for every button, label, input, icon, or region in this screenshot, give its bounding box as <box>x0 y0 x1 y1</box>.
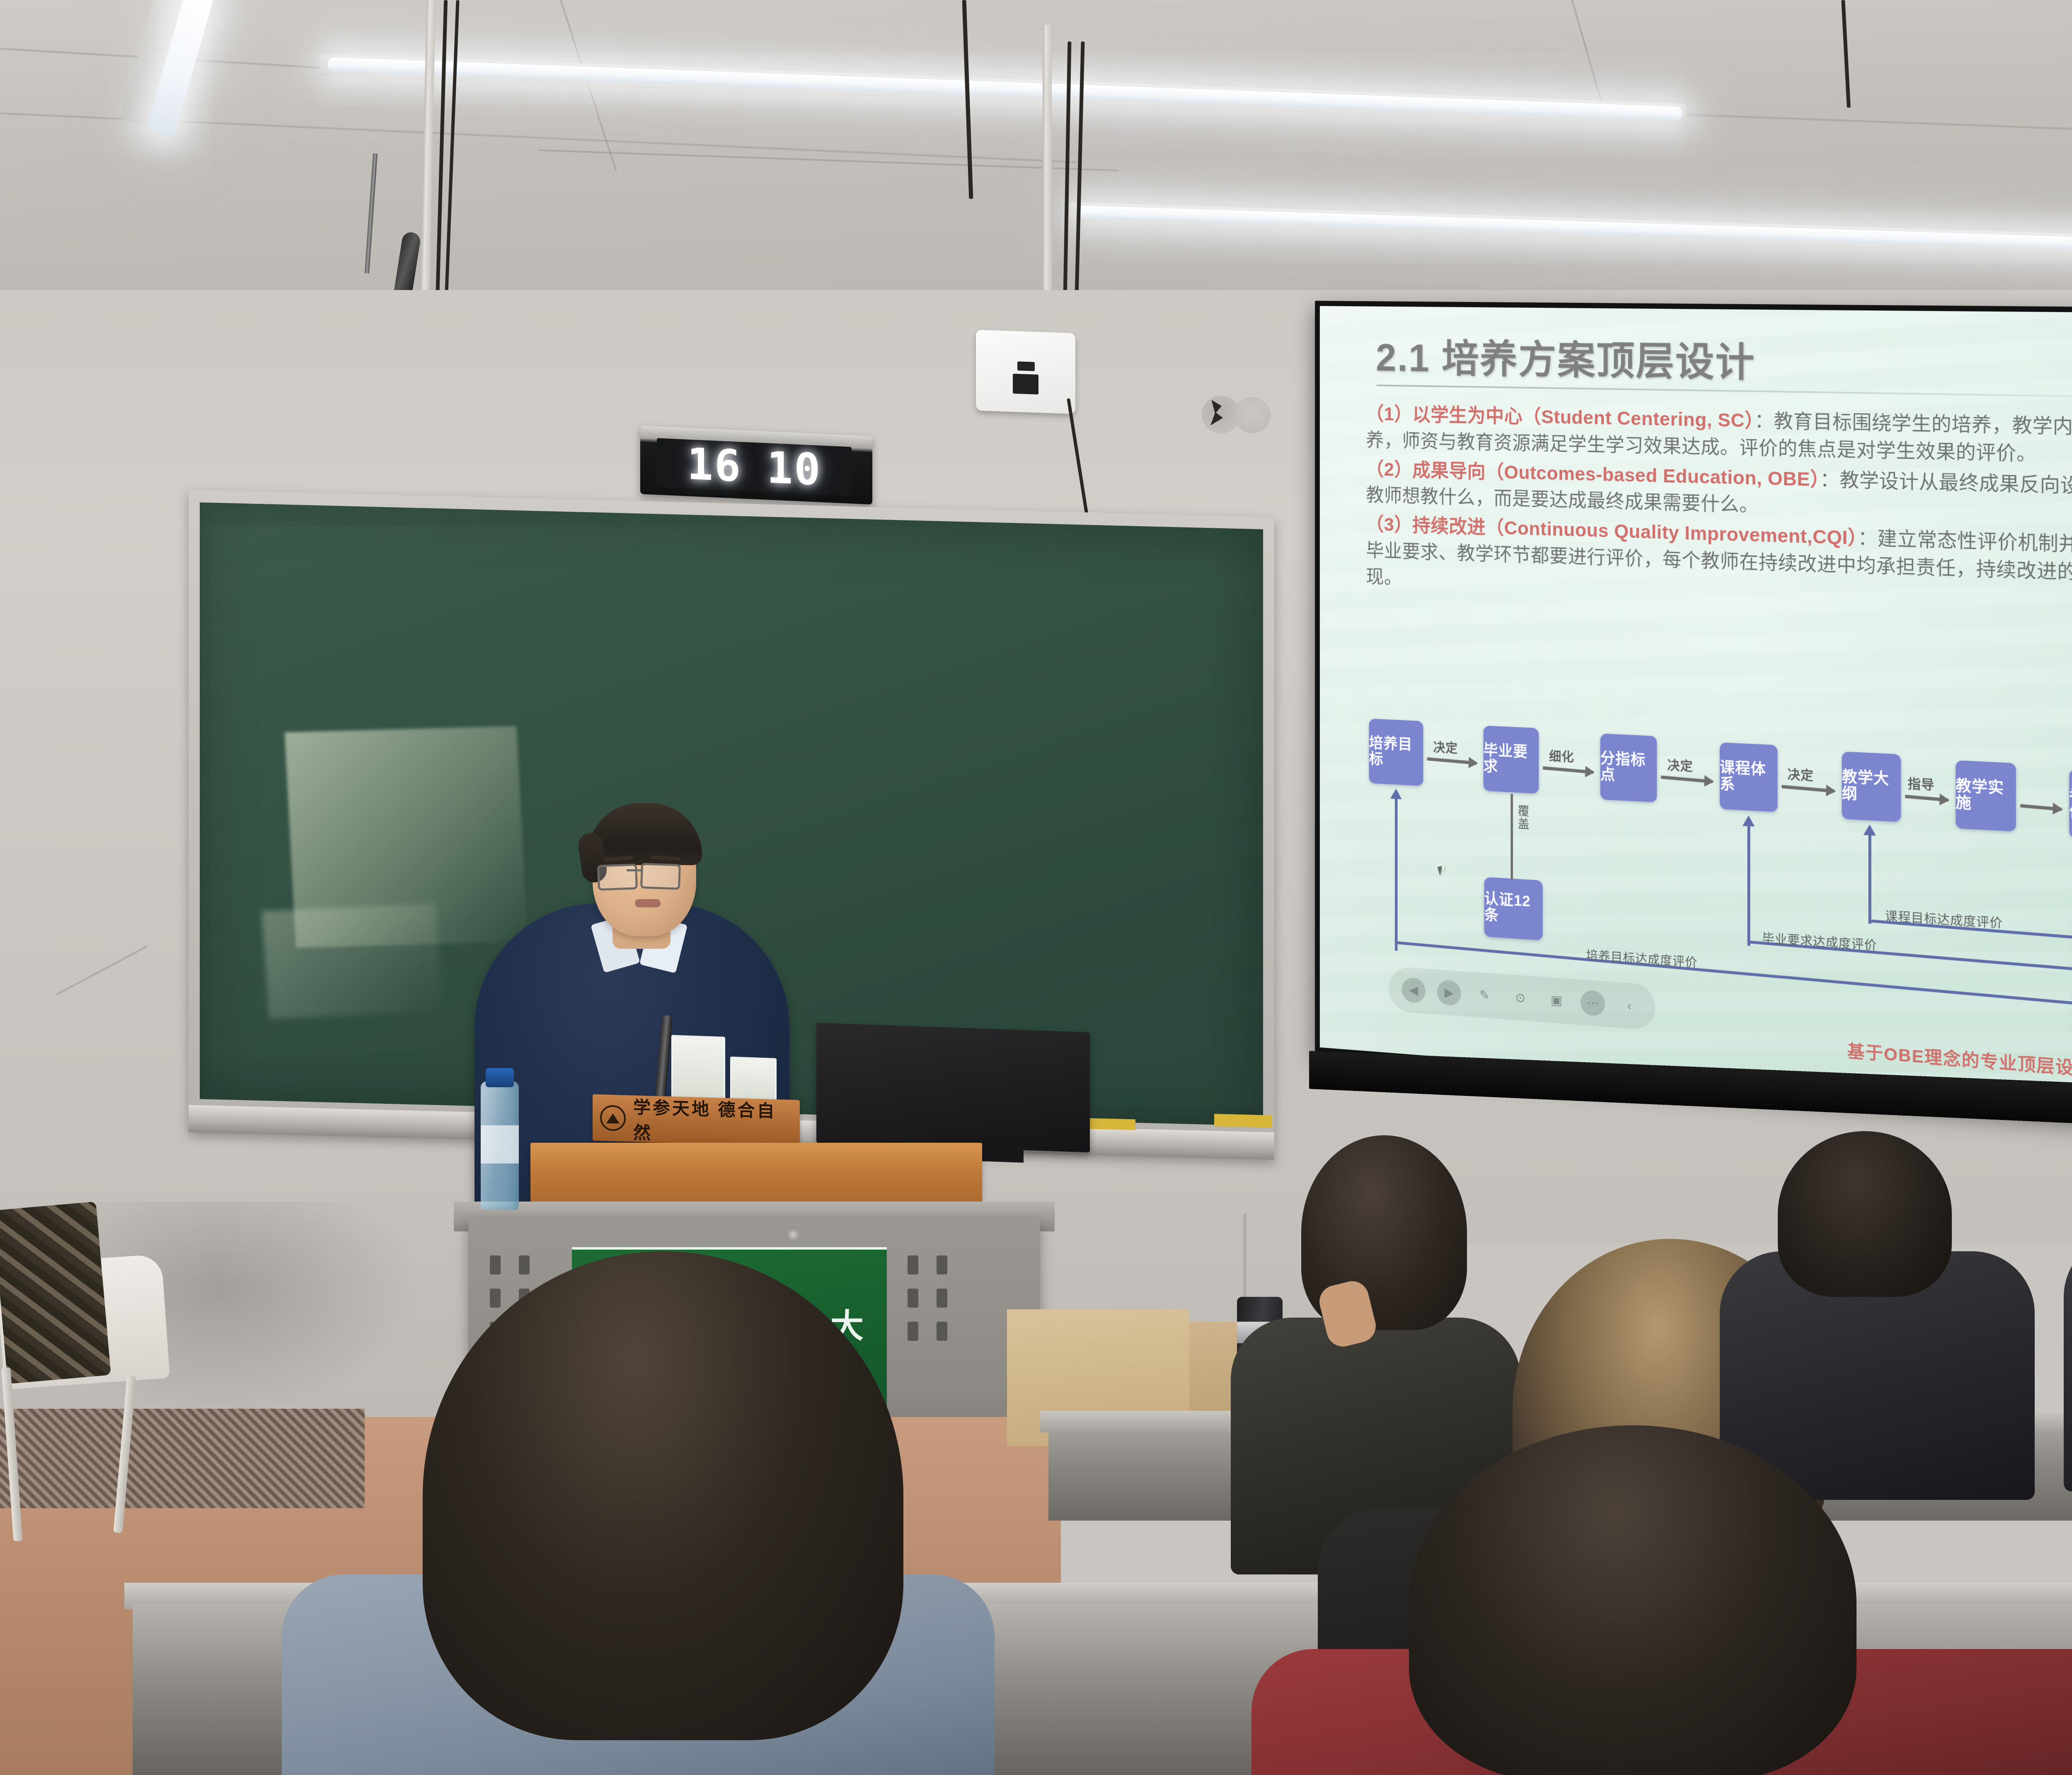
nameplate-emblem-icon <box>600 1105 626 1132</box>
projection-screen: 2.1 培养方案顶层设计 NORTHEAST FORESTRY UNIVERSI… <box>1315 301 2072 1136</box>
ceiling <box>0 0 2072 315</box>
video-icon[interactable]: ▣ <box>1544 987 1569 1014</box>
wall-patch <box>1234 397 1271 433</box>
pen-icon[interactable]: ✎ <box>1472 982 1496 1008</box>
lectern-lock-icon <box>787 1227 799 1242</box>
flow-node-毕业要求: 毕业要求 <box>1484 725 1539 793</box>
lectern-vent <box>937 1289 947 1308</box>
point-1-index: （1） <box>1366 403 1412 425</box>
flow-arrow-label: 决定 <box>1667 754 1693 774</box>
feedback-label-2: 毕业要求达成度评价 <box>1762 928 1877 953</box>
audience-member-hair <box>1778 1131 1952 1297</box>
lectern-vent <box>490 1289 501 1308</box>
chalk-tray-clip <box>1086 1118 1135 1130</box>
blackboard-light-glare <box>261 904 443 1019</box>
floor-terrazzo-strip <box>0 1409 365 1508</box>
access-point-led <box>1017 361 1035 371</box>
lectern-vent <box>908 1322 918 1341</box>
chalk-tray-clip <box>1214 1114 1272 1128</box>
flow-vertical-label: 覆盖 <box>1518 805 1531 831</box>
clock-minutes: 10 <box>767 446 821 492</box>
point-3-term-en: （Continuous Quality Improvement,CQI） <box>1486 516 1858 549</box>
presenter-glasses-lens <box>597 863 638 890</box>
flow-node-教学实施: 教学实施 <box>1956 760 2016 832</box>
collapse-icon[interactable]: ‹ <box>1617 992 1642 1019</box>
projection-screen-surface: 2.1 培养方案顶层设计 NORTHEAST FORESTRY UNIVERSI… <box>1320 306 2072 1125</box>
flow-arrow <box>1905 795 1948 802</box>
presenter-glasses-bridge <box>627 869 641 871</box>
plaid-coat <box>0 1202 111 1384</box>
flow-arrow-label: 决定 <box>1787 764 1813 784</box>
point-2-index: （2） <box>1366 458 1412 480</box>
flow-arrow-label: 决定 <box>1433 737 1458 756</box>
audience-member-hair <box>1409 1425 1857 1775</box>
feedback-label-1: 培养目标达成度评价 <box>1586 945 1697 970</box>
flow-arrow-label: 细化 <box>1549 746 1574 765</box>
presenter-mouth <box>635 899 661 907</box>
audience-member-hair <box>423 1251 903 1740</box>
slide-title: 2.1 培养方案顶层设计 <box>1376 326 1755 388</box>
flow-arrow <box>1661 776 1713 784</box>
clock-display: 16 10 <box>657 438 852 496</box>
next-slide-icon[interactable]: ▶ <box>1437 979 1461 1006</box>
flow-node-教学大纲: 教学大纲 <box>1842 752 1901 822</box>
water-bottle-cap <box>486 1068 514 1087</box>
point-3-index: （3） <box>1366 513 1412 535</box>
water-bottle-label <box>481 1125 519 1163</box>
point-1-term-en: （Student Centering, SC） <box>1523 405 1754 431</box>
flow-arrow <box>2020 804 2062 811</box>
flow-node-分指标点: 分指标点 <box>1600 733 1657 802</box>
more-options-icon[interactable]: ⋯ <box>1581 990 1605 1017</box>
flow-arrow <box>1543 766 1593 774</box>
presenter-glasses-lens <box>640 863 681 890</box>
wifi-access-point <box>976 330 1075 414</box>
feedback-arrow-up <box>1395 791 1397 951</box>
nameplate-text: 学参天地 德合自然 <box>633 1093 792 1149</box>
point-2-term-en: （Outcomes-based Education, OBE） <box>1486 461 1820 490</box>
prev-slide-icon[interactable]: ◀ <box>1402 977 1426 1004</box>
feedback-arrow-up <box>1748 818 1750 946</box>
flow-cover-line <box>1510 794 1513 880</box>
point-3-term-cn: 持续改进 <box>1412 514 1486 537</box>
point-2-term-cn: 成果导向 <box>1412 459 1486 482</box>
lectern-vent <box>908 1289 918 1308</box>
flow-node-培养目标: 培养目标 <box>1369 718 1423 786</box>
lectern-vent <box>937 1255 947 1274</box>
point-1-term-cn: 以学生为中心 <box>1412 404 1523 427</box>
flow-arrow-label: 指导 <box>1907 773 1934 793</box>
flow-node-认证12条: 认证12条 <box>1484 877 1543 941</box>
flow-arrow <box>1782 785 1834 793</box>
access-point-port <box>1013 374 1038 394</box>
laser-pointer-icon[interactable]: ⊙ <box>1508 984 1532 1011</box>
flow-arrow <box>1427 757 1477 765</box>
flow-node-考核评价: 考核评价 <box>2069 769 2072 841</box>
lectern-vent <box>519 1255 530 1274</box>
flow-node-课程体系: 课程体系 <box>1720 742 1778 812</box>
lectern-vent <box>908 1255 918 1274</box>
lectern-nameplate: 学参天地 德合自然 <box>593 1094 800 1146</box>
lectern-monitor <box>816 1023 1090 1152</box>
audience-member-body <box>2064 1235 2072 1492</box>
slide-body: （1）以学生为中心（Student Centering, SC）：教育目标围绕学… <box>1366 400 2072 624</box>
lectern-vent <box>937 1322 947 1341</box>
classroom-photo-scene: 16 10 2.1 培养方案顶层设计 NORTHEAST FORESTRY UN… <box>0 0 2072 1775</box>
clock-hours: 16 <box>687 442 742 488</box>
feedback-arrow-up <box>1869 827 1871 924</box>
lectern-vent <box>490 1255 501 1274</box>
feedback-label-3: 课程目标达成度评价 <box>1885 905 2003 931</box>
